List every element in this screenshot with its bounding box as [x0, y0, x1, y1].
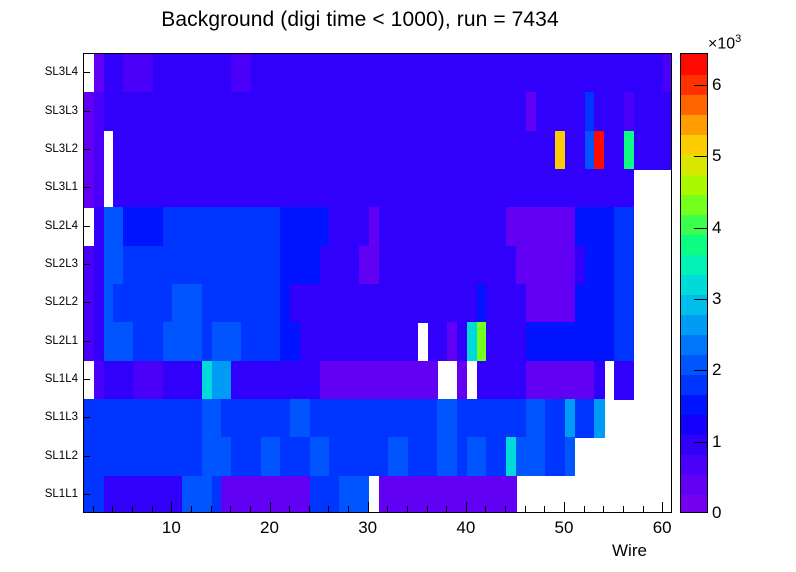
y-axis-tick [83, 72, 90, 73]
y-axis-tick [83, 494, 90, 495]
heatmap-cell [663, 92, 672, 131]
x-axis-minor-tick [623, 506, 624, 513]
x-axis-minor-tick [407, 506, 408, 513]
heatmap-cell [457, 361, 467, 400]
y-axis-tick [83, 302, 90, 303]
palette-band [681, 434, 707, 455]
heatmap-cell [663, 54, 672, 93]
heatmap-cell [506, 476, 516, 513]
palette-band [681, 414, 707, 435]
palette-band [681, 354, 707, 375]
x-axis-minor-tick [152, 506, 153, 513]
palette-band [681, 134, 707, 155]
y-axis-tick [83, 111, 90, 112]
y-axis-label: SL3L2 [45, 143, 78, 155]
y-axis-labels: SL3L4SL3L3SL3L2SL3L1SL2L4SL2L3SL2L2SL2L1… [0, 53, 78, 513]
x-axis-tick-label: 60 [653, 518, 672, 538]
x-axis-minor-tick [93, 506, 94, 513]
heatmap-cell [594, 361, 604, 400]
x-axis-minor-tick [348, 506, 349, 513]
x-axis-minor-tick [230, 506, 231, 513]
heatmap-cell [624, 284, 634, 323]
x-axis-major-tick [466, 502, 467, 513]
heatmap-cell [663, 131, 672, 170]
y-axis-tick [83, 417, 90, 418]
x-axis-minor-tick [328, 506, 329, 513]
page-title: Background (digi time < 1000), run = 743… [0, 8, 720, 32]
palette-tick-label: 6 [712, 75, 721, 95]
x-axis-major-tick [270, 502, 271, 513]
palette-band [681, 294, 707, 315]
heatmap-cell [594, 399, 604, 438]
x-axis-tick-label: 10 [162, 518, 181, 538]
y-axis-label: SL1L4 [45, 373, 78, 385]
y-axis-label: SL3L3 [45, 105, 78, 117]
plot-frame[interactable] [83, 53, 672, 513]
palette-tick-label: 1 [712, 432, 721, 452]
y-axis-label: SL2L3 [45, 258, 78, 270]
y-axis-tick [83, 226, 90, 227]
palette-band [681, 194, 707, 215]
palette-band [681, 114, 707, 135]
y-axis-label: SL2L4 [45, 220, 78, 232]
palette-band [681, 174, 707, 195]
palette-tick [694, 85, 708, 86]
x-axis-major-tick [564, 502, 565, 513]
x-axis-minor-tick [485, 506, 486, 513]
palette-band [681, 494, 707, 513]
palette-tick [694, 442, 708, 443]
x-axis-minor-tick [427, 506, 428, 513]
y-axis-label: SL1L2 [45, 450, 78, 462]
x-axis-minor-tick [132, 506, 133, 513]
heatmap-cells [84, 54, 671, 512]
palette-tick [694, 156, 708, 157]
y-axis-tick [83, 149, 90, 150]
y-axis-label: SL1L1 [45, 488, 78, 500]
x-axis-minor-tick [112, 506, 113, 513]
x-axis-minor-tick [603, 506, 604, 513]
y-axis-tick [83, 341, 90, 342]
x-axis-minor-tick [309, 506, 310, 513]
palette-band [681, 274, 707, 295]
palette-tick-label: 4 [712, 218, 721, 238]
x-axis-minor-tick [525, 506, 526, 513]
palette-band [681, 474, 707, 495]
y-axis-label: SL2L2 [45, 296, 78, 308]
x-axis-tick-label: 40 [456, 518, 475, 538]
x-axis-tick-label: 30 [358, 518, 377, 538]
x-axis-minor-tick [643, 506, 644, 513]
palette-band [681, 314, 707, 335]
palette-exponent: ×103 [708, 33, 741, 53]
x-axis-title: Wire [612, 541, 647, 561]
heatmap-cell [408, 322, 418, 361]
color-scale-bar [680, 53, 708, 513]
x-axis-minor-tick [250, 506, 251, 513]
palette-tick-label: 2 [712, 360, 721, 380]
heatmap-cell [624, 322, 634, 361]
x-axis-minor-tick [191, 506, 192, 513]
heatmap-cell [94, 131, 104, 170]
y-axis-tick [83, 264, 90, 265]
palette-band [681, 394, 707, 415]
heatmap-cell [624, 361, 634, 400]
heatmap-cell [428, 361, 438, 400]
x-axis-minor-tick [446, 506, 447, 513]
palette-band [681, 334, 707, 355]
x-axis-minor-tick [544, 506, 545, 513]
heatmap-cell [624, 246, 634, 285]
x-axis-tick-label: 50 [555, 518, 574, 538]
y-axis-label: SL1L3 [45, 411, 78, 423]
y-axis-label: SL3L4 [45, 66, 78, 78]
x-axis-tick-label: 20 [260, 518, 279, 538]
heatmap-cell [94, 169, 104, 208]
heatmap-cell [624, 207, 634, 246]
y-axis-tick [83, 187, 90, 188]
heatmap-cell [565, 437, 575, 476]
x-axis-minor-tick [211, 506, 212, 513]
palette-tick [694, 228, 708, 229]
x-axis-major-tick [662, 502, 663, 513]
palette-tick-label: 5 [712, 146, 721, 166]
palette-band [681, 234, 707, 255]
palette-band [681, 374, 707, 395]
palette-band [681, 214, 707, 235]
x-axis-major-tick [368, 502, 369, 513]
palette-tick [694, 370, 708, 371]
y-axis-tick [83, 379, 90, 380]
y-axis-tick [83, 456, 90, 457]
palette-band [681, 94, 707, 115]
x-axis-minor-tick [584, 506, 585, 513]
heatmap-cell [624, 169, 634, 208]
palette-tick [694, 299, 708, 300]
palette-band [681, 54, 707, 75]
palette-band [681, 254, 707, 275]
y-axis-label: SL3L1 [45, 181, 78, 193]
x-axis-minor-tick [289, 506, 290, 513]
root-canvas: Background (digi time < 1000), run = 743… [0, 0, 796, 572]
x-axis-minor-tick [505, 506, 506, 513]
y-axis-label: SL2L1 [45, 335, 78, 347]
palette-tick-label: 0 [712, 503, 721, 523]
x-axis-minor-tick [387, 506, 388, 513]
palette-tick-label: 3 [712, 289, 721, 309]
palette-band [681, 454, 707, 475]
x-axis-major-tick [171, 502, 172, 513]
